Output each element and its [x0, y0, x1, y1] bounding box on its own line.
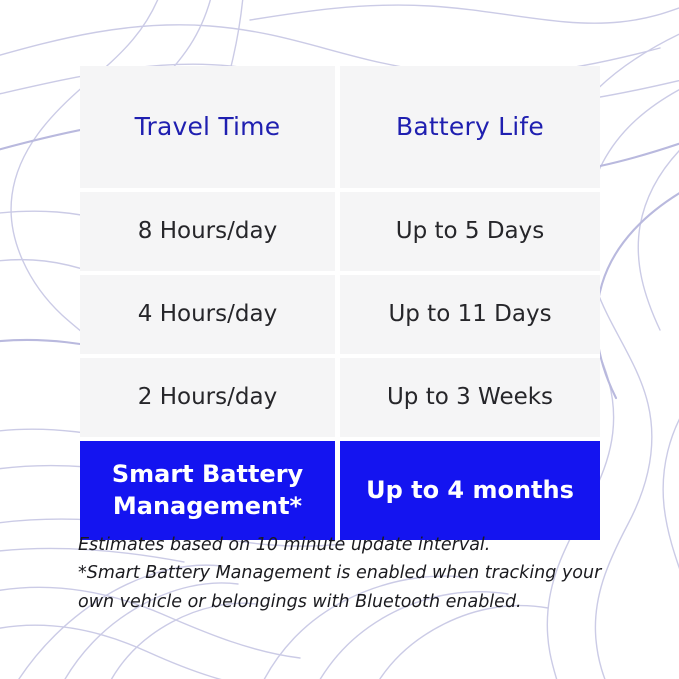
value-travel-time: 4 Hours/day — [138, 301, 277, 327]
cell-battery-life: Up to 11 Days — [340, 275, 600, 358]
table-header-row: Travel Time Battery Life — [80, 66, 600, 192]
cell-smart-battery-management: Smart Battery Management* — [80, 441, 340, 540]
footnote: Estimates based on 10 minute update inte… — [78, 531, 606, 616]
value-travel-time: 8 Hours/day — [138, 218, 277, 244]
value-battery-life: Up to 3 Weeks — [387, 384, 553, 410]
footnote-line-1: Estimates based on 10 minute update inte… — [78, 531, 606, 559]
cell-battery-life: Up to 3 Weeks — [340, 358, 600, 441]
header-cell-travel-time: Travel Time — [80, 66, 340, 192]
value-smart-battery-management: Smart Battery Management* — [112, 460, 303, 519]
value-battery-life: Up to 11 Days — [388, 301, 551, 327]
column-header-battery-life: Battery Life — [396, 112, 544, 141]
table-row: 8 Hours/day Up to 5 Days — [80, 192, 600, 275]
battery-life-table: Travel Time Battery Life 8 Hours/day Up … — [80, 66, 600, 540]
table-row: 2 Hours/day Up to 3 Weeks — [80, 358, 600, 441]
cell-travel-time: 8 Hours/day — [80, 192, 340, 275]
value-travel-time: 2 Hours/day — [138, 384, 277, 410]
cell-travel-time: 2 Hours/day — [80, 358, 340, 441]
header-cell-battery-life: Battery Life — [340, 66, 600, 192]
cell-battery-life: Up to 5 Days — [340, 192, 600, 275]
value-battery-life: Up to 5 Days — [396, 218, 545, 244]
cell-travel-time: 4 Hours/day — [80, 275, 340, 358]
cell-smart-battery-life: Up to 4 months — [340, 441, 600, 540]
table-row-highlight: Smart Battery Management* Up to 4 months — [80, 441, 600, 540]
table-row: 4 Hours/day Up to 11 Days — [80, 275, 600, 358]
value-smart-battery-life: Up to 4 months — [366, 476, 574, 504]
column-header-travel-time: Travel Time — [135, 112, 281, 141]
footnote-line-2: *Smart Battery Management is enabled whe… — [78, 559, 606, 616]
infographic-content: Travel Time Battery Life 8 Hours/day Up … — [0, 0, 679, 679]
